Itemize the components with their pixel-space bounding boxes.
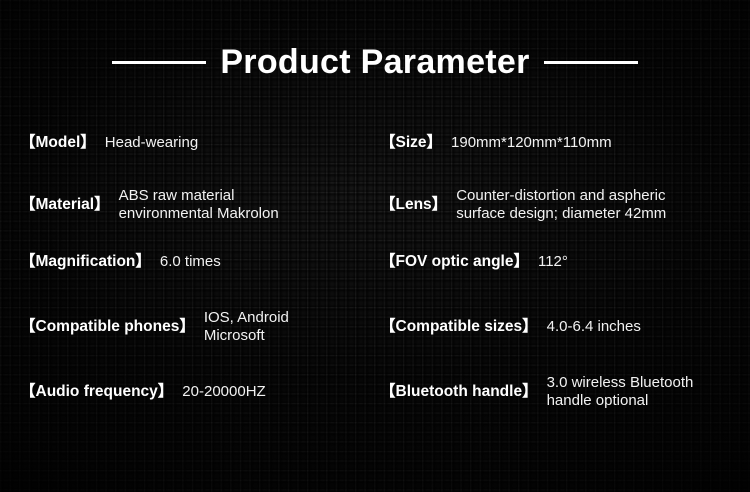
- parameter-label: 【Audio frequency】: [20, 383, 173, 401]
- product-parameter-page: Product Parameter 【Model】 Head-wearing 【…: [0, 0, 750, 492]
- parameter-value-line: 112°: [538, 253, 568, 271]
- parameter-label: 【FOV optic angle】: [380, 253, 529, 271]
- parameter-value: Head-wearing: [105, 134, 198, 152]
- parameter-label: 【Model】: [20, 134, 96, 152]
- parameter-value: 6.0 times: [160, 253, 221, 271]
- parameter-value: ABS raw material environmental Makrolon: [119, 187, 279, 224]
- parameter-value: 20-20000HZ: [182, 383, 265, 401]
- title-rule-right-icon: [544, 61, 638, 64]
- parameter-value-line: 4.0-6.4 inches: [547, 318, 641, 336]
- parameter-label: 【Size】: [380, 134, 442, 152]
- parameter-value-line: surface design; diameter 42mm: [456, 205, 666, 223]
- parameter-label: 【Magnification】: [20, 253, 151, 271]
- page-title: Product Parameter: [220, 45, 529, 79]
- parameter-value: Counter-distortion and aspheric surface …: [456, 187, 666, 224]
- parameter-value-line: handle optional: [547, 392, 694, 410]
- parameter-value: 3.0 wireless Bluetooth handle optional: [547, 374, 694, 411]
- parameter-label: 【Lens】: [380, 196, 447, 214]
- parameter-label: 【Bluetooth handle】: [380, 383, 538, 401]
- parameter-row: 【Compatible phones】 IOS, Android Microso…: [20, 303, 375, 351]
- parameter-value-line: environmental Makrolon: [119, 205, 279, 223]
- parameter-row: 【Lens】 Counter-distortion and aspheric s…: [380, 181, 746, 229]
- page-content: Product Parameter 【Model】 Head-wearing 【…: [0, 0, 750, 492]
- parameter-row: 【Material】 ABS raw material environmenta…: [20, 181, 375, 229]
- parameter-row: 【Audio frequency】 20-20000HZ: [20, 370, 375, 414]
- parameter-value-line: Head-wearing: [105, 134, 198, 152]
- parameter-row: 【Model】 Head-wearing: [20, 126, 375, 160]
- parameter-value-line: 6.0 times: [160, 253, 221, 271]
- parameter-value-line: IOS, Android: [204, 309, 289, 327]
- parameter-value-line: 20-20000HZ: [182, 383, 265, 401]
- parameter-label: 【Compatible sizes】: [380, 318, 538, 336]
- parameter-label: 【Material】: [20, 196, 110, 214]
- parameter-value-line: 3.0 wireless Bluetooth: [547, 374, 694, 392]
- title-rule-left-icon: [112, 61, 206, 64]
- parameter-value: 112°: [538, 253, 568, 271]
- parameter-value: 190mm*120mm*110mm: [451, 134, 612, 152]
- parameter-row: 【Compatible sizes】 4.0-6.4 inches: [380, 303, 746, 351]
- page-title-block: Product Parameter: [0, 38, 750, 86]
- parameter-row: 【Size】 190mm*120mm*110mm: [380, 126, 746, 160]
- parameter-value-line: Microsoft: [204, 327, 289, 345]
- parameter-value: IOS, Android Microsoft: [204, 309, 289, 346]
- parameter-row: 【Magnification】 6.0 times: [20, 245, 375, 279]
- parameter-label: 【Compatible phones】: [20, 318, 195, 336]
- parameter-row: 【Bluetooth handle】 3.0 wireless Bluetoot…: [380, 370, 746, 414]
- parameter-value-line: 190mm*120mm*110mm: [451, 134, 612, 152]
- parameter-value-line: ABS raw material: [119, 187, 279, 205]
- parameter-value: 4.0-6.4 inches: [547, 318, 641, 336]
- parameter-value-line: Counter-distortion and aspheric: [456, 187, 666, 205]
- parameter-row: 【FOV optic angle】 112°: [380, 245, 746, 279]
